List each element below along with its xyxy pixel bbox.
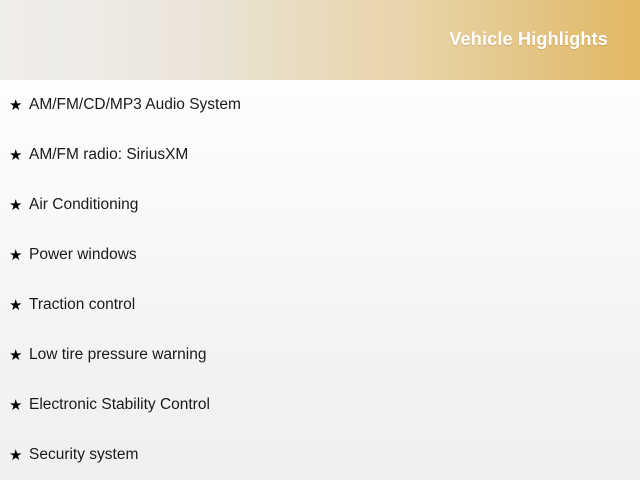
feature-label: Power windows [29,246,640,265]
star-icon: ★ [9,298,29,313]
list-item: ★ Air Conditioning [0,180,640,230]
list-item: ★ AM/FM radio: SiriusXM [0,130,640,180]
page-title: Vehicle Highlights [449,30,608,50]
list-item: ★ Traction control [0,280,640,330]
feature-label: AM/FM radio: SiriusXM [29,146,640,165]
star-icon: ★ [9,98,29,113]
list-item: ★ Power windows [0,230,640,280]
feature-label: Air Conditioning [29,196,640,215]
list-item: ★ Electronic Stability Control [0,380,640,430]
star-icon: ★ [9,198,29,213]
feature-label: Low tire pressure warning [29,346,640,365]
feature-label: Electronic Stability Control [29,396,640,415]
list-item: ★ Low tire pressure warning [0,330,640,380]
vehicle-highlights-list: ★ AM/FM/CD/MP3 Audio System ★ AM/FM radi… [0,80,640,480]
feature-label: Security system [29,446,640,465]
list-item: ★ Security system [0,430,640,480]
star-icon: ★ [9,448,29,463]
feature-label: AM/FM/CD/MP3 Audio System [29,96,640,115]
star-icon: ★ [9,398,29,413]
list-item: ★ AM/FM/CD/MP3 Audio System [0,80,640,130]
star-icon: ★ [9,348,29,363]
star-icon: ★ [9,248,29,263]
panel-header: Vehicle Highlights [0,0,640,80]
star-icon: ★ [9,148,29,163]
feature-label: Traction control [29,296,640,315]
vehicle-highlights-panel: Vehicle Highlights ★ AM/FM/CD/MP3 Audio … [0,0,640,480]
